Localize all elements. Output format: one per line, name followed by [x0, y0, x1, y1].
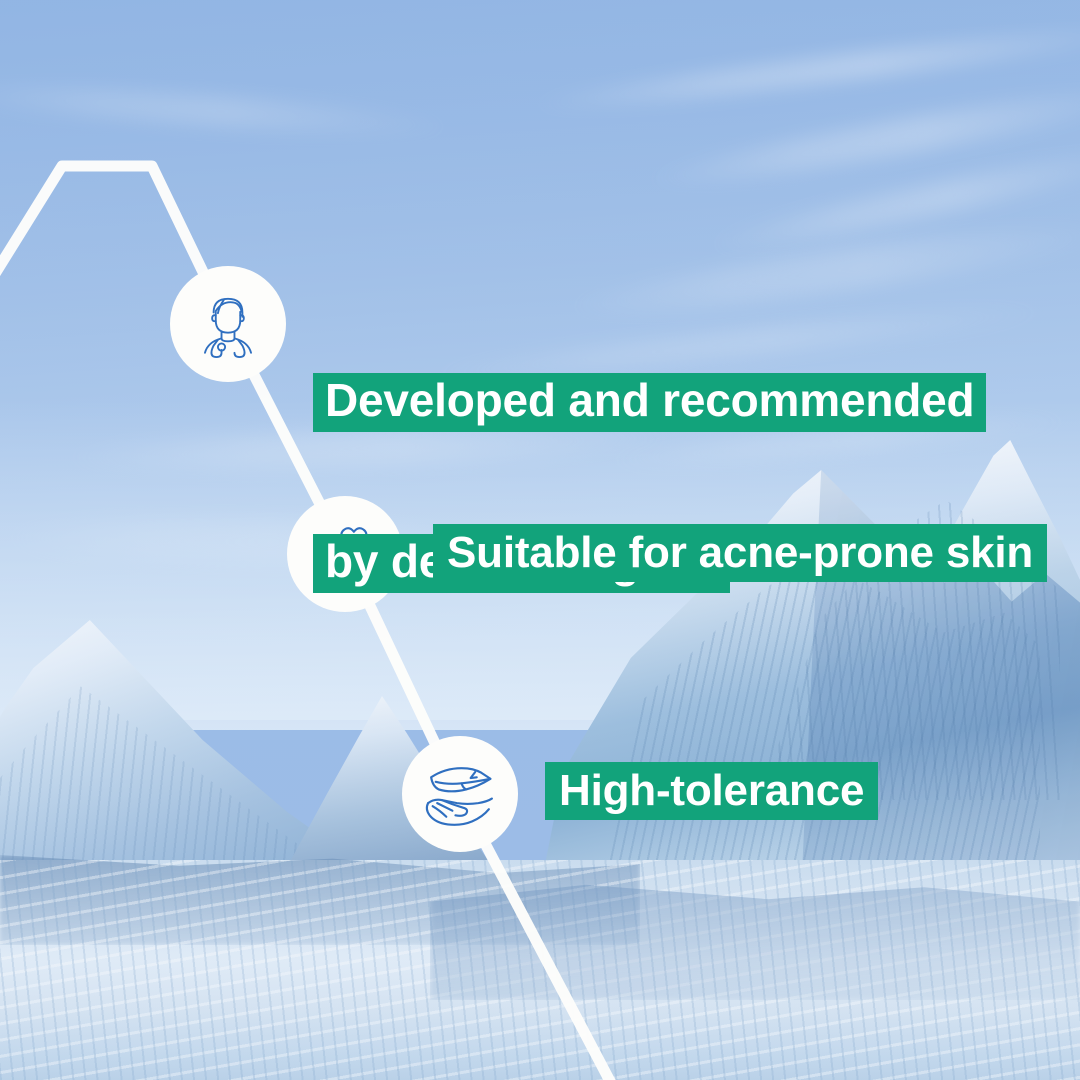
benefit-label-line: Developed and recommended	[313, 373, 986, 432]
benefit-label-high-tolerance: High-tolerance	[545, 762, 878, 820]
doctor-stethoscope-icon	[192, 288, 264, 360]
infographic-canvas: Developed and recommended by dermatologi…	[0, 0, 1080, 1080]
feather-on-hand-icon	[422, 756, 498, 832]
benefit-label-dermatologist: Developed and recommended by dermatologi…	[313, 271, 986, 695]
benefit-label-acne-prone: Suitable for acne-prone skin	[433, 524, 1047, 582]
benefit-icon-bubble-dermatologist[interactable]	[170, 266, 286, 382]
benefit-icon-bubble-high-tolerance[interactable]	[402, 736, 518, 852]
